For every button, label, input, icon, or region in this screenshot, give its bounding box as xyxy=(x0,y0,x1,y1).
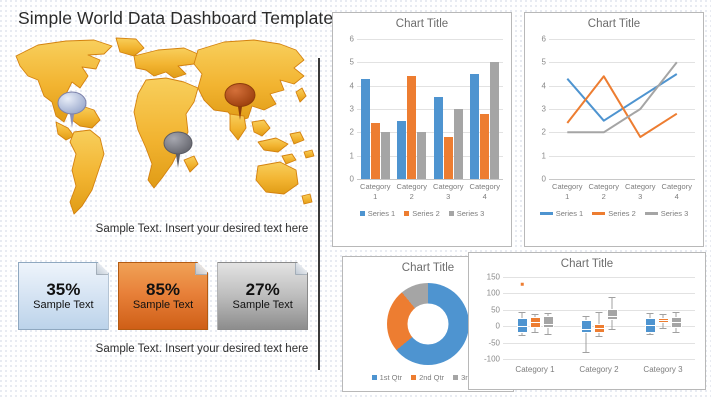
bar-series-2[interactable] xyxy=(444,137,453,179)
whisker-cap xyxy=(609,297,616,298)
whisker-cap xyxy=(545,334,552,335)
legend-label: Series 1 xyxy=(368,209,396,218)
chart-panel-bar[interactable]: Chart Title 6543210 Category1Category2Ca… xyxy=(332,12,512,247)
y-axis-tick: 100 xyxy=(487,289,503,298)
legend-label: Series 3 xyxy=(457,209,485,218)
median-line xyxy=(594,328,605,329)
bar-series-3[interactable] xyxy=(490,62,499,179)
category-label: Category1 xyxy=(549,182,586,201)
legend-item[interactable]: 1st Qtr xyxy=(372,373,403,382)
stat-card-3[interactable]: 27% Sample Text xyxy=(217,262,308,330)
legend-swatch xyxy=(360,211,365,216)
y-axis-tick: 5 xyxy=(542,58,549,67)
y-axis-tick: 150 xyxy=(487,273,503,282)
median-line xyxy=(543,324,554,325)
whisker-cap xyxy=(519,312,526,313)
caption-bottom: Sample Text. Insert your desired text he… xyxy=(82,342,322,357)
whisker-cap xyxy=(596,336,603,337)
stat-value: 85% xyxy=(146,280,180,299)
y-axis-tick: -50 xyxy=(488,338,503,347)
bar-series-1[interactable] xyxy=(361,79,370,179)
legend-item[interactable]: Series 3 xyxy=(645,209,689,218)
y-axis-tick: 3 xyxy=(350,105,357,114)
bar-series-2[interactable] xyxy=(407,76,416,179)
legend-label: Series 3 xyxy=(661,209,689,218)
box-series-1[interactable] xyxy=(645,277,656,359)
category-label: Category2 xyxy=(394,182,431,201)
whisker-cap xyxy=(545,313,552,314)
median-line xyxy=(530,322,541,323)
legend-swatch xyxy=(453,375,458,380)
gridline xyxy=(549,179,695,180)
box-series-3[interactable] xyxy=(543,277,554,359)
legend-item[interactable]: Series 3 xyxy=(449,209,485,218)
box-series-1[interactable] xyxy=(517,277,528,359)
donut-plot-area xyxy=(387,283,469,365)
y-axis-tick: 1 xyxy=(350,151,357,160)
line-legend[interactable]: Series 1Series 2Series 3 xyxy=(525,209,703,218)
median-line xyxy=(645,325,656,326)
legend-swatch xyxy=(540,212,553,215)
category-label: Category 1 xyxy=(503,365,567,374)
box-series-2[interactable] xyxy=(658,277,669,359)
bar-plot-area: 6543210 xyxy=(357,39,503,179)
median-line xyxy=(517,326,528,327)
line-series-1 xyxy=(567,74,677,121)
whisker-cap xyxy=(532,314,539,315)
category-label: Category3 xyxy=(430,182,467,201)
fold-corner-icon xyxy=(195,263,207,275)
category-label: Category4 xyxy=(467,182,504,201)
legend-swatch xyxy=(449,211,454,216)
y-axis-tick: 50 xyxy=(491,305,503,314)
category-label: Category 3 xyxy=(631,365,695,374)
legend-label: Series 2 xyxy=(608,209,636,218)
stat-label: Sample Text xyxy=(233,299,293,312)
legend-item[interactable]: Series 2 xyxy=(404,209,440,218)
bar-series-3[interactable] xyxy=(381,132,390,179)
y-axis-tick: 2 xyxy=(542,128,549,137)
dashboard-slide: Simple World Data Dashboard Template xyxy=(0,0,711,400)
bar-series-2[interactable] xyxy=(371,123,380,179)
box-series-2[interactable] xyxy=(594,277,605,359)
category-label: Category1 xyxy=(357,182,394,201)
bar-series-1[interactable] xyxy=(397,121,406,179)
legend-item[interactable]: 2nd Qtr xyxy=(411,373,444,382)
box-group xyxy=(567,277,631,359)
line-series-svg xyxy=(549,39,695,179)
bar-series-3[interactable] xyxy=(454,109,463,179)
box-series-3[interactable] xyxy=(607,277,618,359)
category-label: Category 2 xyxy=(567,365,631,374)
median-line xyxy=(658,320,669,321)
bar-series-1[interactable] xyxy=(434,97,443,179)
median-line xyxy=(607,316,618,317)
bar-group xyxy=(467,39,504,179)
whisker-cap xyxy=(647,334,654,335)
whisker-cap xyxy=(609,329,616,330)
median-line xyxy=(671,322,682,323)
y-axis-tick: 0 xyxy=(496,322,503,331)
whisker-cap xyxy=(673,332,680,333)
y-axis-tick: 6 xyxy=(542,35,549,44)
page-title: Simple World Data Dashboard Template xyxy=(18,8,333,29)
category-label: Category4 xyxy=(659,182,696,201)
legend-label: 1st Qtr xyxy=(380,373,403,382)
world-map[interactable] xyxy=(8,36,318,222)
whisker-cap xyxy=(647,313,654,314)
box-group xyxy=(503,277,567,359)
outlier-point xyxy=(521,283,524,286)
y-axis-tick: 5 xyxy=(350,58,357,67)
y-axis-tick: 4 xyxy=(542,81,549,90)
stat-value: 27% xyxy=(246,280,280,299)
box-series-2[interactable] xyxy=(530,277,541,359)
box-group xyxy=(631,277,695,359)
line-plot-area: 6543210 xyxy=(549,39,695,179)
bar-groups xyxy=(357,39,503,179)
y-axis-tick: 3 xyxy=(542,105,549,114)
y-axis-tick: 0 xyxy=(350,175,357,184)
legend-swatch xyxy=(592,212,605,215)
chart-title: Chart Title xyxy=(333,18,511,30)
y-axis-tick: 4 xyxy=(350,81,357,90)
bar-series-2[interactable] xyxy=(480,114,489,179)
box-category-labels: Category 1Category 2Category 3 xyxy=(503,365,695,374)
bar-series-1[interactable] xyxy=(470,74,479,179)
stat-card-1[interactable]: 35% Sample Text xyxy=(18,262,109,330)
legend-label: Series 1 xyxy=(556,209,584,218)
whisker-cap xyxy=(660,328,667,329)
legend-item[interactable]: Series 1 xyxy=(360,209,396,218)
caption-top: Sample Text. Insert your desired text he… xyxy=(82,222,322,237)
y-axis-tick: 0 xyxy=(542,175,549,184)
stat-value: 35% xyxy=(46,280,80,299)
gridline xyxy=(357,179,503,180)
whisker-cap xyxy=(583,316,590,317)
box-series-3[interactable] xyxy=(671,277,682,359)
legend-swatch xyxy=(372,375,377,380)
y-axis-tick: -100 xyxy=(484,355,503,364)
legend-swatch xyxy=(404,211,409,216)
gridline xyxy=(503,359,695,360)
box-plot-area: 150100500-50-100 xyxy=(503,277,695,359)
legend-swatch xyxy=(411,375,416,380)
box-rect xyxy=(581,320,592,332)
chart-panel-box[interactable]: Chart Title 150100500-50-100 Category 1C… xyxy=(468,252,706,390)
whisker-cap xyxy=(519,335,526,336)
legend-label: 2nd Qtr xyxy=(419,373,444,382)
legend-item[interactable]: Series 1 xyxy=(540,209,584,218)
category-label: Category2 xyxy=(586,182,623,201)
whisker-cap xyxy=(583,352,590,353)
box-rect xyxy=(607,309,618,319)
fold-corner-icon xyxy=(96,263,108,275)
line-category-labels: Category1Category2Category3Category4 xyxy=(549,182,695,201)
chart-panel-line[interactable]: Chart Title 6543210 Category1Category2Ca… xyxy=(524,12,704,247)
bar-group xyxy=(394,39,431,179)
bar-group xyxy=(357,39,394,179)
stat-label: Sample Text xyxy=(33,299,93,312)
vertical-divider xyxy=(318,58,320,370)
median-line xyxy=(581,329,592,330)
legend-label: Series 2 xyxy=(412,209,440,218)
whisker-cap xyxy=(596,312,603,313)
box-rect xyxy=(543,316,554,328)
chart-title: Chart Title xyxy=(525,18,703,30)
category-label: Category3 xyxy=(622,182,659,201)
bar-category-labels: Category1Category2Category3Category4 xyxy=(357,182,503,201)
donut-ring xyxy=(387,283,469,365)
fold-corner-icon xyxy=(295,263,307,275)
y-axis-tick: 6 xyxy=(350,35,357,44)
y-axis-tick: 2 xyxy=(350,128,357,137)
box-series-1[interactable] xyxy=(581,277,592,359)
bar-group xyxy=(430,39,467,179)
whisker-cap xyxy=(660,314,667,315)
bar-series-3[interactable] xyxy=(417,132,426,179)
whisker-cap xyxy=(532,332,539,333)
y-axis-tick: 1 xyxy=(542,151,549,160)
chart-title: Chart Title xyxy=(469,258,705,270)
whisker-cap xyxy=(673,312,680,313)
stat-label: Sample Text xyxy=(133,299,193,312)
legend-swatch xyxy=(645,212,658,215)
stat-card-group: 35% Sample Text 85% Sample Text 27% Samp… xyxy=(18,262,308,332)
stat-card-2[interactable]: 85% Sample Text xyxy=(118,262,209,330)
bar-legend[interactable]: Series 1Series 2Series 3 xyxy=(333,209,511,218)
legend-item[interactable]: Series 2 xyxy=(592,209,636,218)
